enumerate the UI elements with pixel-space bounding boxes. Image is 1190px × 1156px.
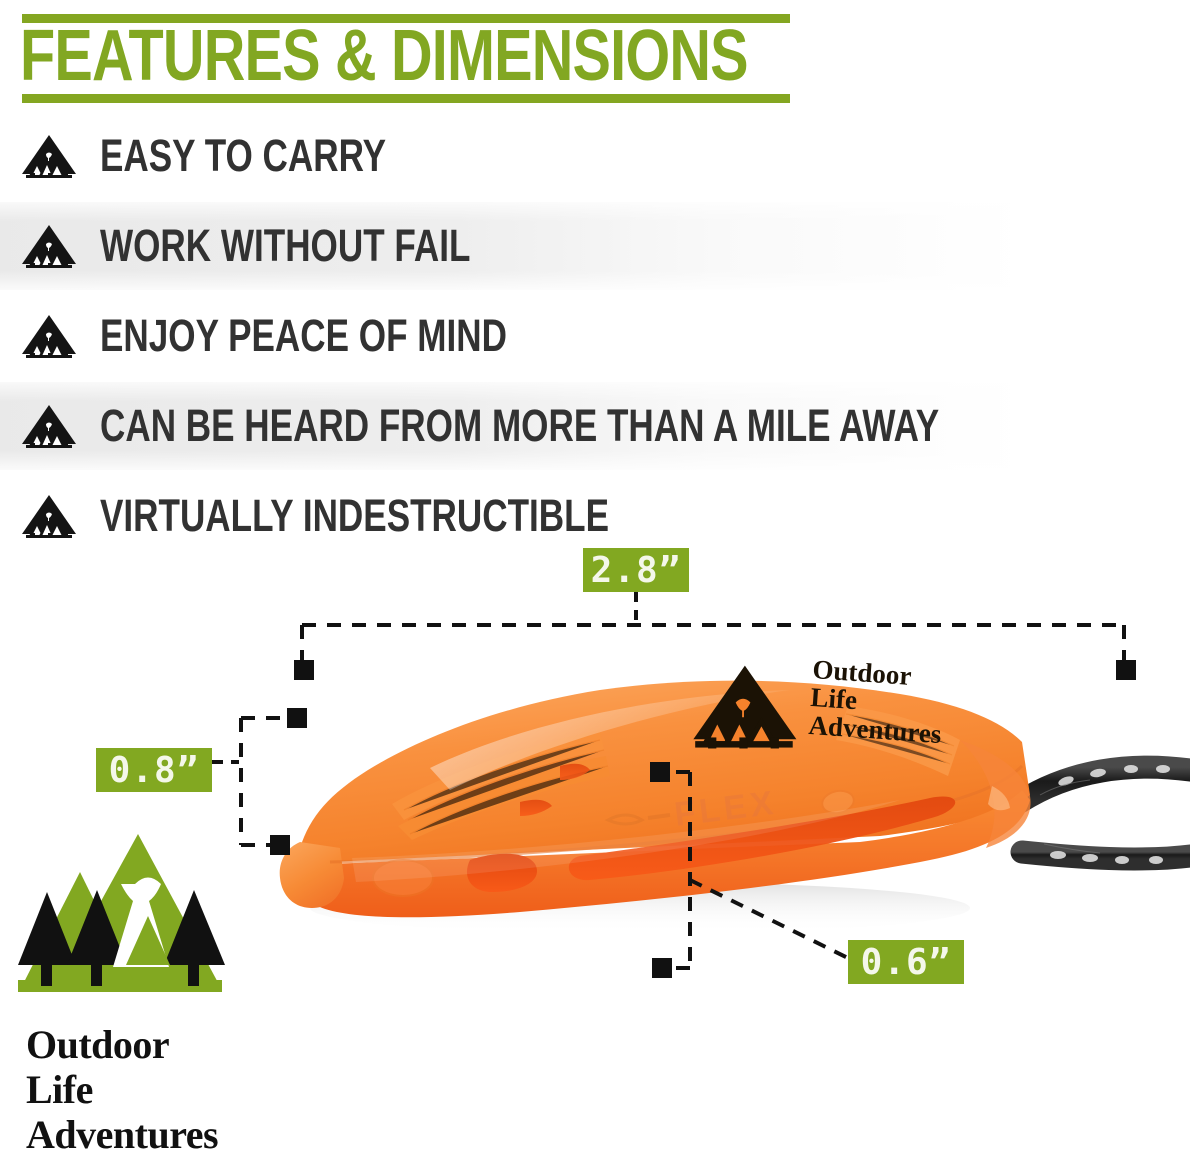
brand-logo: Outdoor Life Adventures [14,832,260,1144]
dimension-label-depth: 0.6” [848,940,964,984]
brand-name-line1: Outdoor [26,1022,256,1067]
mountain-range-icon [20,314,78,358]
dimension-label-length: 2.8” [583,548,689,592]
list-item: WORK WITHOUT FAIL [0,202,1190,290]
brand-name-line3: Adventures [26,1112,256,1156]
list-item-label: EASY TO CARRY [100,129,386,183]
list-item-label: CAN BE HEARD FROM MORE THAN A MILE AWAY [100,399,939,453]
title-rule-bottom [22,94,790,103]
mountain-range-icon [20,134,78,178]
mountain-range-icon [20,404,78,448]
list-item: CAN BE HEARD FROM MORE THAN A MILE AWAY [0,382,1190,470]
whistle-body: FLEX Out [280,654,1031,917]
list-item-label: VIRTUALLY INDESTRUCTIBLE [100,489,609,543]
page-title: FEATURES & DIMENSIONS [20,17,652,95]
brand-name: Outdoor Life Adventures [26,1022,256,1156]
brand-mountain-tree-icon [14,832,260,1012]
feature-list: EASY TO CARRY WORK WITHOUT FAIL [0,112,1190,552]
mountain-range-icon [20,224,78,268]
list-item: VIRTUALLY INDESTRUCTIBLE [0,472,1190,560]
list-item-label: ENJOY PEACE OF MIND [100,309,507,363]
lanyard-cord [1020,765,1190,864]
list-item: EASY TO CARRY [0,112,1190,200]
list-item: ENJOY PEACE OF MIND [0,292,1190,380]
brand-name-line2: Life [26,1067,256,1112]
dimension-label-height: 0.8” [96,748,212,792]
mountain-range-icon [20,494,78,538]
list-item-label: WORK WITHOUT FAIL [100,219,470,273]
page-header: FEATURES & DIMENSIONS [0,0,1190,110]
